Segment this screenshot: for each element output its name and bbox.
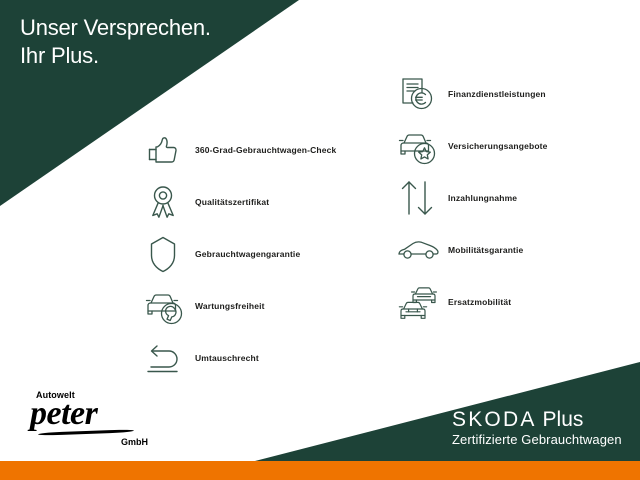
dealer-logo-legal-form: GmbH <box>30 437 148 447</box>
rosette-award-icon <box>143 178 195 226</box>
dealer-logo: Autowelt peter GmbH <box>30 390 170 452</box>
feature-item-financial-services: Finanzdienstleistungen <box>396 68 548 120</box>
feature-label: Ersatzmobilität <box>448 297 511 307</box>
feature-label: Mobilitätsgarantie <box>448 245 523 255</box>
feature-label: Qualitätszertifikat <box>195 197 269 207</box>
feature-list-left: 360-Grad-Gebrauchtwagen-Check Qualitätsz… <box>143 124 336 384</box>
feature-label: Wartungsfreiheit <box>195 301 265 311</box>
feature-label: Gebrauchtwagengarantie <box>195 249 300 259</box>
car-star-icon <box>396 122 448 170</box>
feature-label: Versicherungsangebote <box>448 141 548 151</box>
feature-item-mobility-guarantee: Mobilitätsgarantie <box>396 224 548 276</box>
dealer-logo-name: peter <box>30 398 170 430</box>
headline-line-1: Unser Versprechen. <box>20 14 300 42</box>
headline-line-2: Ihr Plus. <box>20 42 300 70</box>
thumbs-up-icon <box>143 126 195 174</box>
feature-item-replacement-mobility: Ersatzmobilität <box>396 276 548 328</box>
return-arrow-icon <box>143 334 195 382</box>
brand-primary-line: SKODA Plus <box>452 408 622 432</box>
feature-item-warranty: Gebrauchtwagengarantie <box>143 228 336 280</box>
feature-label: Inzahlungnahme <box>448 193 517 203</box>
feature-item-trade-in: Inzahlungnahme <box>396 172 548 224</box>
brand-plus-suffix: Plus <box>543 408 584 432</box>
two-cars-icon <box>396 278 448 326</box>
feature-label: Umtauschrecht <box>195 353 259 363</box>
car-wrench-icon <box>143 282 195 330</box>
up-down-arrows-icon <box>396 174 448 222</box>
feature-item-maintenance-free: Wartungsfreiheit <box>143 280 336 332</box>
brand-tagline: Zertifizierte Gebrauchtwagen <box>452 432 622 447</box>
document-euro-icon <box>396 70 448 118</box>
feature-label: 360-Grad-Gebrauchtwagen-Check <box>195 145 336 155</box>
brand-name: SKODA <box>452 408 537 432</box>
feature-item-insurance-offers: Versicherungsangebote <box>396 120 548 172</box>
feature-list-right: Finanzdienstleistungen Versicherungsange… <box>396 68 548 328</box>
orange-footer-bar <box>0 461 640 480</box>
feature-item-return-right: Umtauschrecht <box>143 332 336 384</box>
skoda-plus-brand-lockup: SKODA Plus Zertifizierte Gebrauchtwagen <box>452 408 622 447</box>
feature-item-quality-certificate: Qualitätszertifikat <box>143 176 336 228</box>
feature-item-360-check: 360-Grad-Gebrauchtwagen-Check <box>143 124 336 176</box>
car-side-icon <box>396 226 448 274</box>
shield-icon <box>143 230 195 278</box>
feature-label: Finanzdienstleistungen <box>448 89 546 99</box>
promo-banner: Unser Versprechen. Ihr Plus. 360-Grad-Ge… <box>0 0 640 480</box>
page-title: Unser Versprechen. Ihr Plus. <box>20 14 300 70</box>
